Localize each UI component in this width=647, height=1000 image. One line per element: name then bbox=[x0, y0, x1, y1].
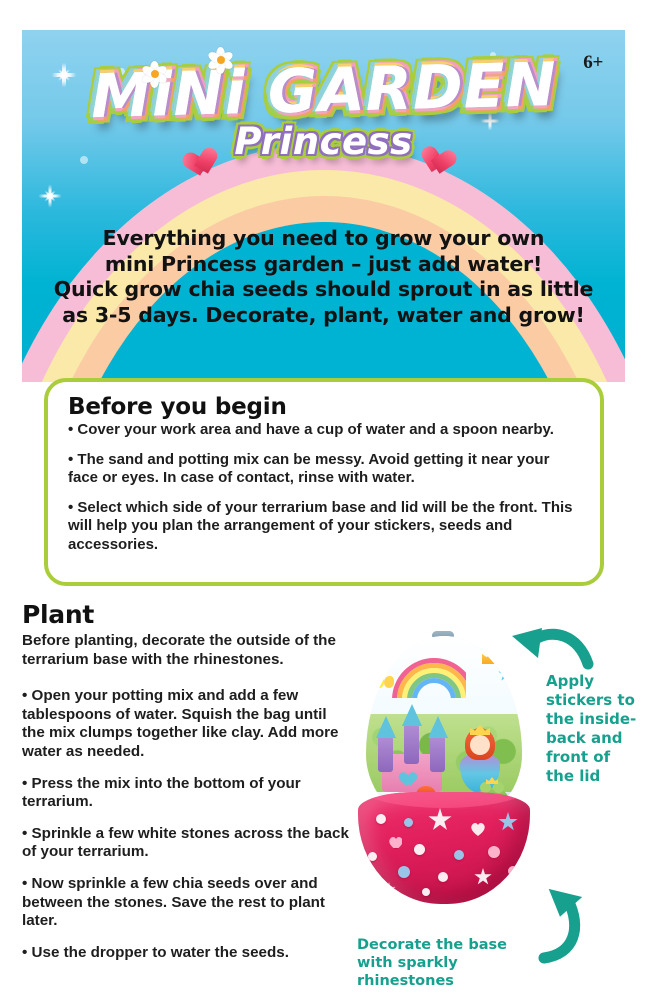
daisy-flower-icon bbox=[209, 48, 233, 72]
product-logo: MiNi GARDEN Princess bbox=[22, 56, 625, 163]
terrarium-product-image bbox=[358, 636, 530, 904]
list-item: • Use the dropper to water the seeds. bbox=[22, 944, 352, 963]
before-you-begin-box: Before you begin • Cover your work area … bbox=[44, 378, 604, 586]
tagline-text: Everything you need to grow your ownmini… bbox=[22, 226, 625, 328]
before-you-begin-title: Before you begin bbox=[68, 394, 580, 420]
list-item: • Sprinkle a few white stones across the… bbox=[22, 825, 352, 862]
list-item: • Select which side of your terrarium ba… bbox=[68, 499, 580, 555]
list-item: • Open your potting mix and add a few ta… bbox=[22, 687, 352, 761]
plant-section-title: Plant bbox=[22, 600, 94, 629]
terrarium-base bbox=[358, 792, 530, 904]
tagline-line: Everything you need to grow your own bbox=[36, 226, 611, 252]
before-you-begin-list: • Cover your work area and have a cup of… bbox=[68, 421, 580, 554]
daisy-flower-icon bbox=[143, 62, 167, 86]
plant-intro: Before planting, decorate the outside of… bbox=[22, 632, 352, 669]
tagline-line: as 3-5 days. Decorate, plant, water and … bbox=[36, 303, 611, 329]
list-item: • Press the mix into the bottom of your … bbox=[22, 775, 352, 812]
heart-icon bbox=[424, 145, 459, 179]
list-item: • The sand and potting mix can be messy.… bbox=[68, 451, 580, 488]
rainbow-sticker-icon bbox=[392, 658, 466, 698]
castle-figure bbox=[376, 730, 448, 792]
tagline-line: mini Princess garden – just add water! bbox=[36, 252, 611, 278]
base-callout-text: Decorate the base with sparkly rhineston… bbox=[357, 936, 547, 990]
butterfly-sticker-icon bbox=[374, 676, 394, 690]
logo-title-word2: GARDEN bbox=[267, 50, 558, 128]
logo-subtitle: Princess bbox=[234, 120, 412, 163]
header-panel: 6+ MiNi GARDEN Princess Everything you n… bbox=[22, 30, 625, 382]
list-item: • Cover your work area and have a cup of… bbox=[68, 421, 580, 440]
tagline-line: Quick grow chia seeds should sprout in a… bbox=[36, 277, 611, 303]
plant-instructions: Before planting, decorate the outside of… bbox=[22, 632, 352, 975]
list-item: • Now sprinkle a few chia seeds over and… bbox=[22, 875, 352, 931]
lid-callout-text: Apply stickers to the inside-back and fr… bbox=[546, 672, 642, 786]
